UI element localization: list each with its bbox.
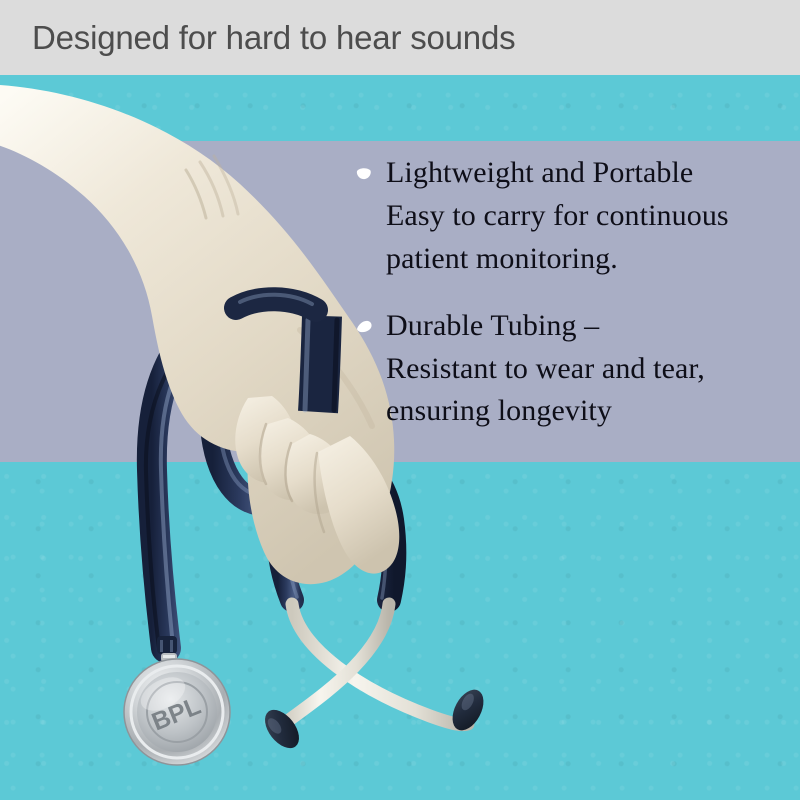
feature-text: Durable Tubing – Resistant to wear and t… bbox=[386, 305, 705, 434]
page-title: Designed for hard to hear sounds bbox=[32, 19, 515, 57]
feature-line-2: Easy to carry for continuous bbox=[386, 199, 729, 232]
feature-line-3: patient monitoring. bbox=[386, 242, 618, 275]
header-banner: Designed for hard to hear sounds bbox=[0, 0, 800, 75]
feature-heading: Lightweight and Portable bbox=[386, 156, 693, 189]
feature-text: Lightweight and Portable Easy to carry f… bbox=[386, 152, 729, 281]
feature-item: Lightweight and Portable Easy to carry f… bbox=[355, 152, 795, 281]
product-feature-card: BPL bbox=[0, 0, 800, 800]
feature-item: Durable Tubing – Resistant to wear and t… bbox=[355, 305, 795, 434]
crescent-bullet-icon bbox=[355, 317, 375, 337]
feature-line-3: ensuring longevity bbox=[386, 394, 612, 427]
feature-line-2: Resistant to wear and tear, bbox=[386, 352, 705, 385]
crescent-bullet-icon bbox=[355, 164, 375, 184]
feature-heading: Durable Tubing – bbox=[386, 309, 599, 342]
feature-list: Lightweight and Portable Easy to carry f… bbox=[355, 152, 795, 457]
